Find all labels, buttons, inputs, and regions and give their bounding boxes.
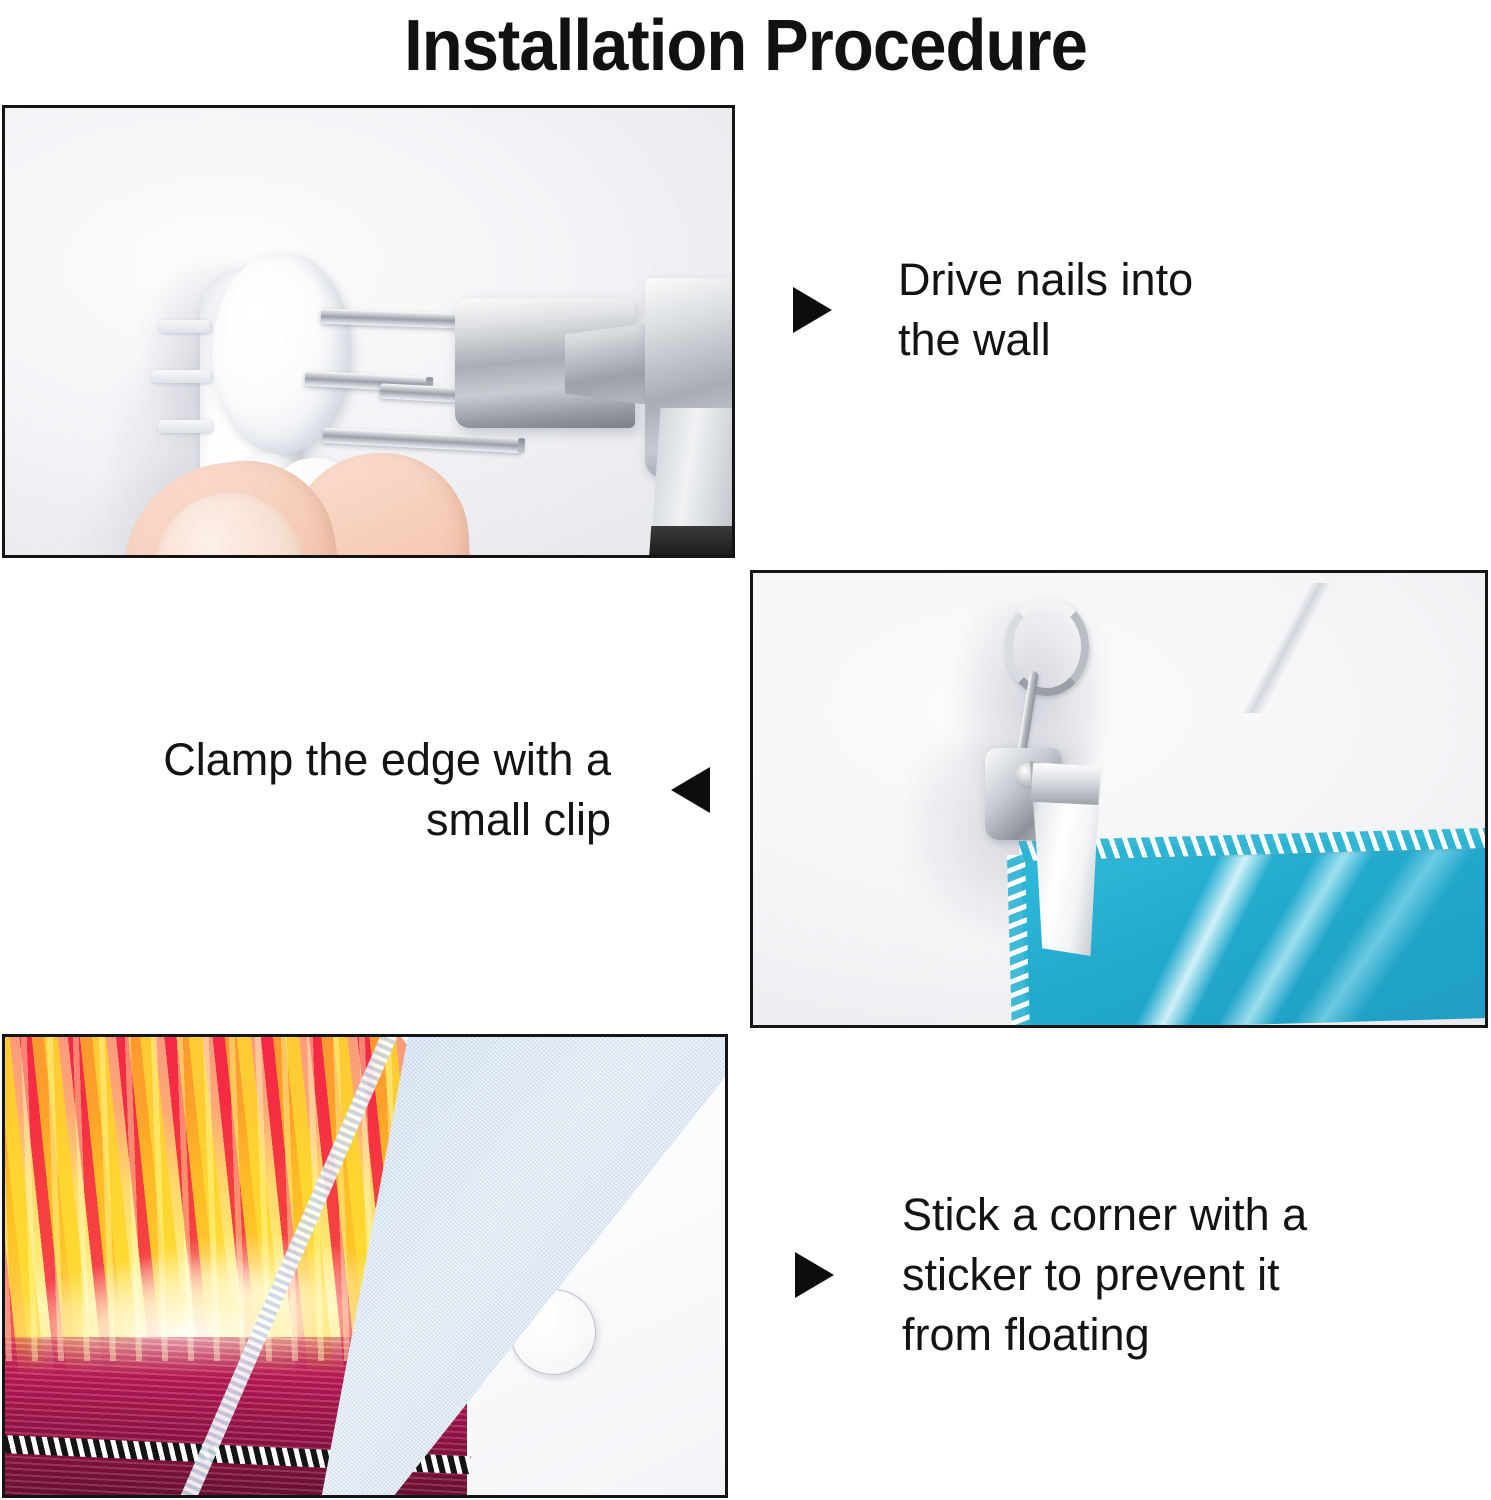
- triangle-right-icon: [793, 287, 832, 333]
- step-1-photo-panel: [2, 105, 735, 558]
- step-1-callout: Drive nails into the wall: [793, 250, 1353, 370]
- step-2-label: Clamp the edge with a small clip: [163, 730, 611, 850]
- wall-scuff-mark: [1223, 583, 1353, 713]
- triangle-right-icon: [795, 1252, 834, 1298]
- step-3-photo-panel: [2, 1034, 728, 1498]
- step-3-label: Stick a corner with a sticker to prevent…: [902, 1185, 1307, 1365]
- hook-rib-2: [151, 370, 211, 383]
- page-title: Installation Procedure: [52, 2, 1439, 90]
- step-3-callout: Stick a corner with a sticker to prevent…: [795, 1185, 1395, 1365]
- wall-hook-plate: [212, 253, 352, 453]
- hammer-band: [649, 526, 735, 558]
- hook-rib-1: [158, 320, 210, 333]
- clip-blade-lip: [1029, 763, 1101, 805]
- step-2-photo-panel: [750, 570, 1488, 1028]
- step-1-label: Drive nails into the wall: [898, 250, 1193, 370]
- triangle-left-icon: [671, 767, 710, 813]
- clip-ring-icon: [1005, 598, 1089, 696]
- step-2-callout: Clamp the edge with a small clip: [60, 730, 710, 850]
- hook-rib-3: [158, 420, 212, 433]
